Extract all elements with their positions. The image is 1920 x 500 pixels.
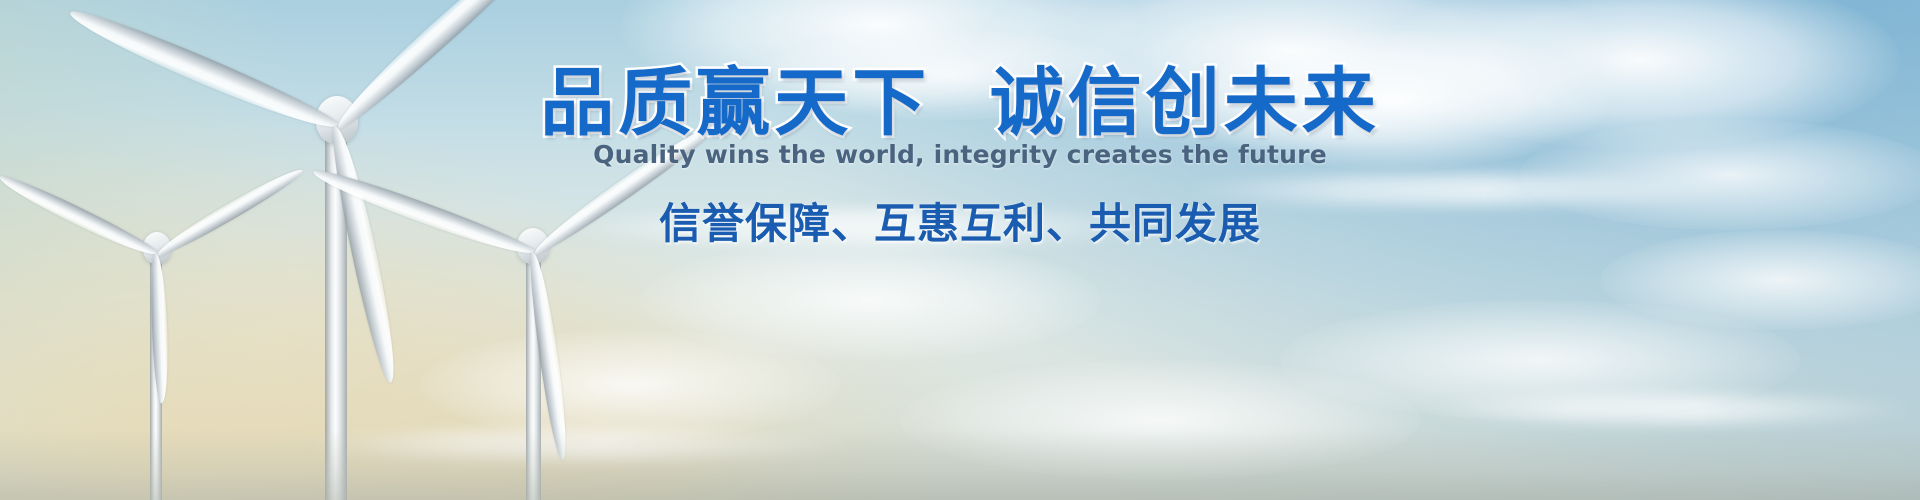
promo-banner: 品质赢天下 诚信创未来 Quality wins the world, inte… [0,0,1920,500]
turbine-blade [529,117,722,260]
turbine-blade [310,163,538,262]
wind-turbine [330,0,950,500]
